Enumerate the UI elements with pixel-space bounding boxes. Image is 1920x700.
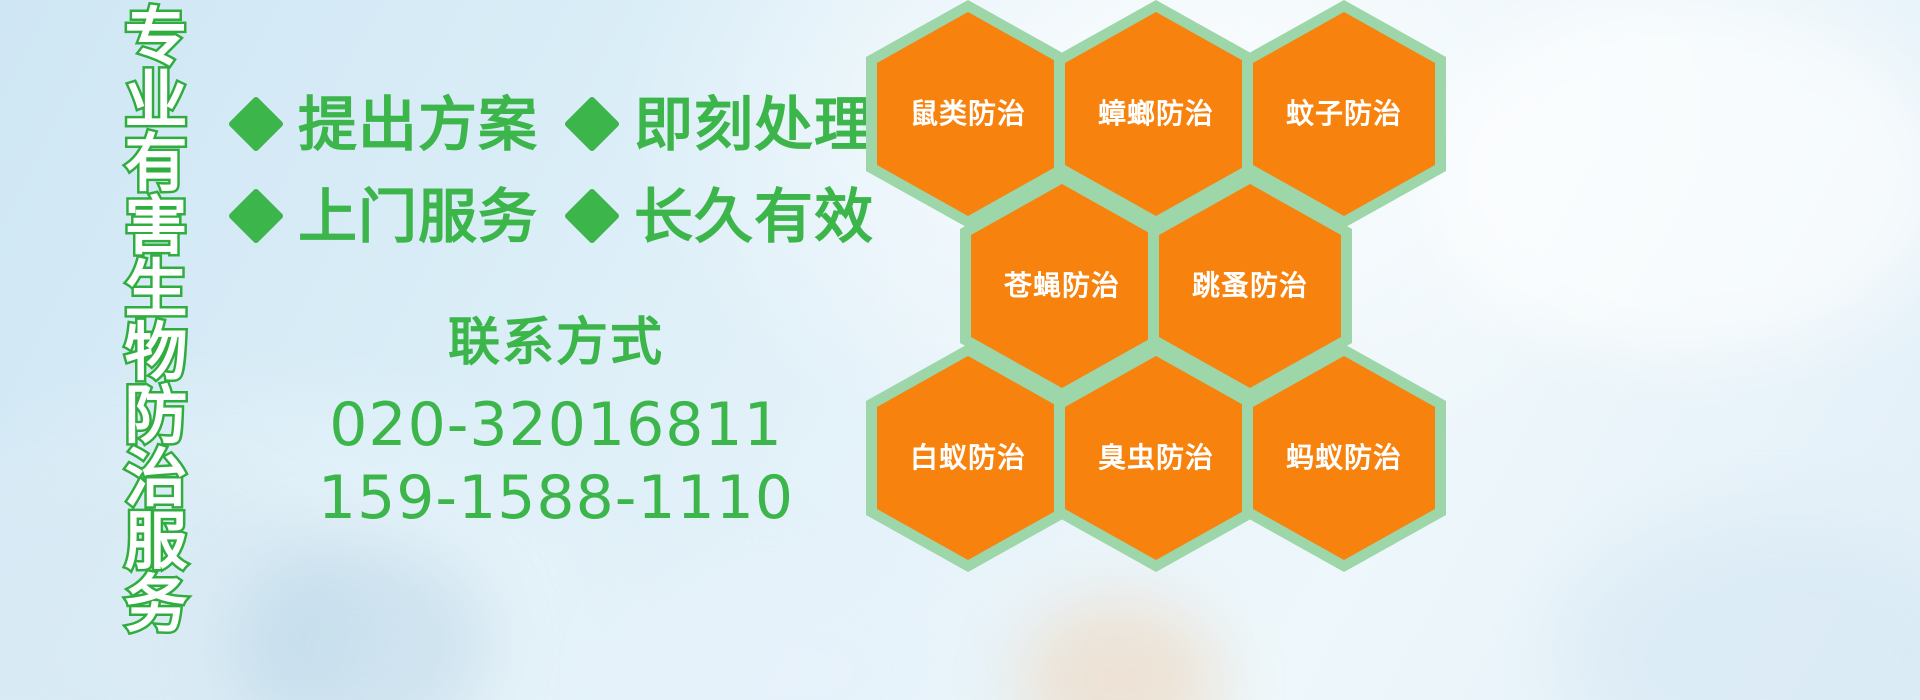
vertical-headline-char: 物 bbox=[104, 321, 208, 384]
hex-inner: 白蚁防治 bbox=[877, 356, 1059, 560]
service-hex-label: 白蚁防治 bbox=[910, 444, 1026, 472]
service-hex-label: 苍蝇防治 bbox=[1004, 272, 1120, 300]
hex-inner: 蚊子防治 bbox=[1253, 12, 1435, 216]
service-hex-label: 蟑螂防治 bbox=[1098, 100, 1214, 128]
feature-list: 提出方案 即刻处理 上门服务 长久有效 bbox=[236, 78, 876, 262]
feature-label: 上门服务 bbox=[298, 187, 538, 246]
diamond-icon bbox=[564, 96, 621, 153]
service-hex-label: 蚊子防治 bbox=[1286, 100, 1402, 128]
diamond-icon bbox=[228, 188, 285, 245]
vertical-headline-char: 有 bbox=[104, 132, 208, 195]
feature-item: 长久有效 bbox=[572, 187, 874, 246]
service-hex-label: 鼠类防治 bbox=[910, 100, 1026, 128]
diamond-icon bbox=[564, 188, 621, 245]
background-blob bbox=[230, 540, 490, 700]
vertical-headline-char: 业 bbox=[104, 69, 208, 132]
hex-inner: 鼠类防治 bbox=[877, 12, 1059, 216]
hex-inner: 苍蝇防治 bbox=[971, 184, 1153, 388]
service-hex-label: 跳蚤防治 bbox=[1192, 272, 1308, 300]
vertical-headline-char: 防 bbox=[104, 384, 208, 447]
feature-item: 上门服务 bbox=[236, 187, 538, 246]
contact-title: 联系方式 bbox=[236, 316, 876, 371]
hex-inner: 蟑螂防治 bbox=[1065, 12, 1247, 216]
feature-row: 提出方案 即刻处理 bbox=[236, 78, 876, 170]
vertical-headline-char: 专 bbox=[104, 6, 208, 69]
background-blob bbox=[1560, 520, 1920, 700]
vertical-headline-char: 生 bbox=[104, 258, 208, 321]
feature-item: 即刻处理 bbox=[572, 95, 874, 154]
phone-number-landline[interactable]: 020-32016811 bbox=[236, 389, 876, 462]
hex-inner: 跳蚤防治 bbox=[1159, 184, 1341, 388]
vertical-headline-char: 务 bbox=[104, 573, 208, 636]
hex-inner: 臭虫防治 bbox=[1065, 356, 1247, 560]
service-honeycomb: 鼠类防治 蟑螂防治 蚊子防治 苍蝇防治 跳蚤防治 白蚁防治 bbox=[856, 0, 1456, 700]
diamond-icon bbox=[228, 96, 285, 153]
feature-item: 提出方案 bbox=[236, 95, 538, 154]
phone-number-mobile[interactable]: 159-1588-1110 bbox=[236, 462, 876, 535]
background-blob bbox=[1430, 0, 1920, 360]
contact-block: 联系方式 020-32016811 159-1588-1110 bbox=[236, 316, 876, 535]
feature-row: 上门服务 长久有效 bbox=[236, 170, 876, 262]
banner-canvas: 专 业 有 害 生 物 防 治 服 务 提出方案 即刻处理 上门服务 bbox=[0, 0, 1920, 700]
service-hex-label: 蚂蚁防治 bbox=[1286, 444, 1402, 472]
hex-inner: 蚂蚁防治 bbox=[1253, 356, 1435, 560]
service-hex-label: 臭虫防治 bbox=[1098, 444, 1214, 472]
vertical-headline: 专 业 有 害 生 物 防 治 服 务 bbox=[104, 6, 208, 700]
vertical-headline-char: 害 bbox=[104, 195, 208, 258]
vertical-headline-char: 治 bbox=[104, 447, 208, 510]
vertical-headline-char: 服 bbox=[104, 510, 208, 573]
feature-label: 长久有效 bbox=[634, 187, 874, 246]
feature-label: 提出方案 bbox=[298, 95, 538, 154]
feature-label: 即刻处理 bbox=[634, 95, 874, 154]
